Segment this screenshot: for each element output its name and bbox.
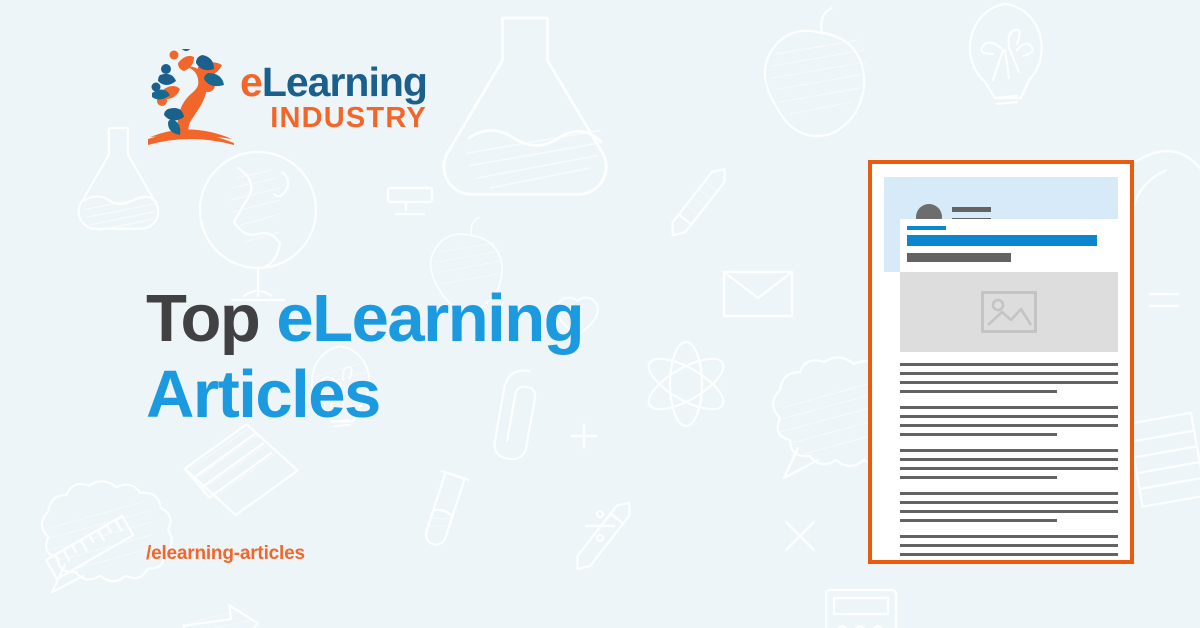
category-kicker-placeholder bbox=[907, 226, 946, 230]
text-line bbox=[900, 381, 1118, 384]
text-line bbox=[900, 519, 1057, 522]
promo-banner: eLearning INDUSTRY Top eLearning Article… bbox=[0, 0, 1200, 628]
mockup-title-card bbox=[900, 219, 1118, 272]
text-line bbox=[900, 553, 1118, 556]
headline-word-top: Top bbox=[146, 281, 276, 356]
notebook-doodle bbox=[1128, 413, 1200, 507]
text-line bbox=[900, 433, 1057, 436]
arrow-doodle bbox=[182, 602, 261, 628]
article-page-mockup bbox=[868, 160, 1134, 564]
logo-word-industry: INDUSTRY bbox=[240, 104, 427, 133]
speech-bubble-doodle bbox=[42, 481, 172, 592]
author-name-placeholder bbox=[952, 207, 991, 212]
text-line bbox=[900, 449, 1118, 452]
paragraph-placeholder bbox=[900, 363, 1118, 393]
flask-doodle bbox=[79, 128, 159, 231]
logo-wordmark: eLearning INDUSTRY bbox=[240, 62, 427, 133]
text-line bbox=[900, 501, 1118, 504]
text-line bbox=[900, 363, 1118, 366]
ruler-doodle bbox=[46, 516, 133, 579]
article-title-placeholder bbox=[907, 235, 1097, 246]
featured-image-placeholder bbox=[900, 272, 1118, 352]
image-placeholder-icon bbox=[981, 291, 1037, 333]
equals-sign-doodle bbox=[1150, 294, 1178, 306]
text-line bbox=[900, 467, 1118, 470]
paragraph-placeholder bbox=[900, 449, 1118, 479]
text-line bbox=[900, 492, 1118, 495]
paragraph-placeholder bbox=[900, 492, 1118, 522]
logo-letter-e: e bbox=[240, 59, 262, 105]
elearning-tree-logo-icon bbox=[148, 49, 234, 145]
mockup-body-text bbox=[900, 363, 1118, 560]
paragraph-placeholder bbox=[900, 406, 1118, 436]
text-line bbox=[900, 458, 1118, 461]
elearning-industry-logo[interactable]: eLearning INDUSTRY bbox=[148, 48, 418, 146]
pencil-doodle bbox=[571, 498, 635, 574]
text-line bbox=[900, 406, 1118, 409]
apple-doodle bbox=[765, 8, 866, 136]
logo-line-elearning: eLearning bbox=[240, 62, 427, 103]
text-line bbox=[900, 415, 1118, 418]
flask-doodle bbox=[444, 18, 606, 194]
text-line bbox=[900, 424, 1118, 427]
logo-word-learning: Learning bbox=[262, 59, 427, 105]
text-line bbox=[900, 535, 1118, 538]
text-line bbox=[900, 372, 1118, 375]
test-tube-doodle bbox=[420, 471, 469, 548]
url-slug[interactable]: /elearning-articles bbox=[146, 543, 305, 565]
pencil-doodle bbox=[666, 164, 730, 240]
times-sign-doodle bbox=[786, 522, 814, 550]
globe-doodle bbox=[200, 152, 316, 300]
page-title: Top eLearning Articles bbox=[146, 281, 746, 432]
article-subtitle-placeholder bbox=[907, 253, 1011, 262]
calculator-doodle bbox=[826, 590, 896, 628]
lightbulb-doodle bbox=[970, 4, 1042, 104]
text-line bbox=[900, 510, 1118, 513]
headline-word-articles: Articles bbox=[146, 357, 380, 432]
headline-word-elearning: eLearning bbox=[276, 281, 583, 356]
text-line bbox=[900, 476, 1057, 479]
text-line bbox=[900, 544, 1118, 547]
notebook-doodle bbox=[388, 188, 432, 214]
text-line bbox=[900, 390, 1057, 393]
divide-sign-doodle bbox=[586, 511, 614, 541]
mockup-page-surface bbox=[872, 164, 1130, 560]
paragraph-placeholder bbox=[900, 535, 1118, 560]
